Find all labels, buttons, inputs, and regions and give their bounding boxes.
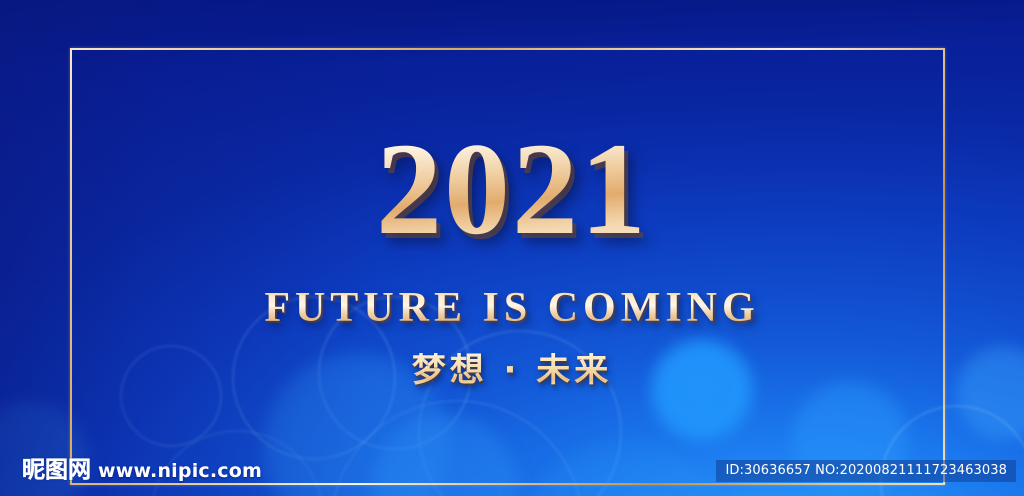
nipic-logo: 昵图网: [22, 450, 91, 484]
watermark-url: www.nipic.com: [98, 460, 262, 482]
subtitle-text: 梦想 · 未来: [0, 353, 1024, 387]
poster-content: 2021 FUTURE IS COMING 梦想 · 未来: [0, 0, 1024, 496]
watermark: 昵图网 www.nipic.com: [22, 450, 262, 484]
poster-canvas: 2021 FUTURE IS COMING 梦想 · 未来 昵图网 www.ni…: [0, 0, 1024, 496]
asset-id-badge: ID:30636657 NO:20200821111723463038: [716, 460, 1016, 482]
year-headline: 2021: [0, 123, 1024, 255]
tagline-text: FUTURE IS COMING: [0, 287, 1024, 329]
